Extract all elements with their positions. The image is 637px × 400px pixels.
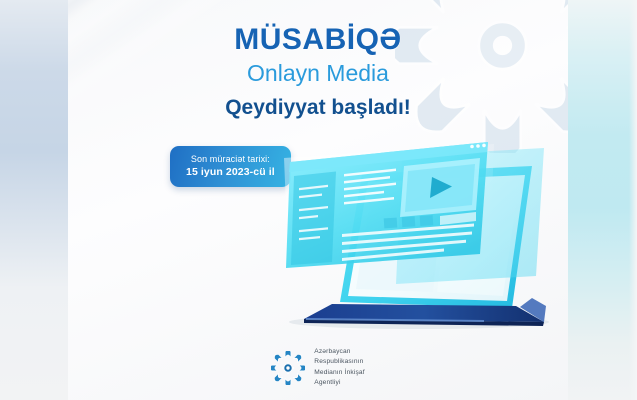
- agency-name: Azərbaycan Respublikasının Medianın İnki…: [314, 347, 364, 388]
- promo-poster: MÜSABİQƏ Onlayn Media Qeydiyyat başladı!…: [0, 0, 637, 400]
- right-gradient-band: [568, 0, 637, 400]
- agency-name-line-1: Azərbaycan: [314, 347, 364, 357]
- agency-logo: Azərbaycan Respublikasının Medianın İnki…: [68, 347, 568, 388]
- right-band-edge: [629, 0, 637, 400]
- agency-name-line-2: Respublikasının: [314, 357, 364, 367]
- headline-block: MÜSABİQƏ Onlayn Media Qeydiyyat başladı!: [68, 24, 568, 126]
- poster-stage: MÜSABİQƏ Onlayn Media Qeydiyyat başladı!…: [68, 0, 568, 400]
- left-gradient-band: [0, 0, 68, 400]
- poster-title-main: MÜSABİQƏ: [68, 24, 568, 56]
- poster-title-cta: Qeydiyyat başladı!: [68, 90, 568, 126]
- laptop-illustration: [244, 126, 568, 341]
- agency-rosette-logo-icon: [271, 351, 305, 385]
- agency-name-line-3: Medianın İnkişaf: [314, 368, 364, 378]
- agency-name-line-4: Agentliyi: [314, 378, 364, 388]
- poster-title-sub: Onlayn Media: [68, 56, 568, 91]
